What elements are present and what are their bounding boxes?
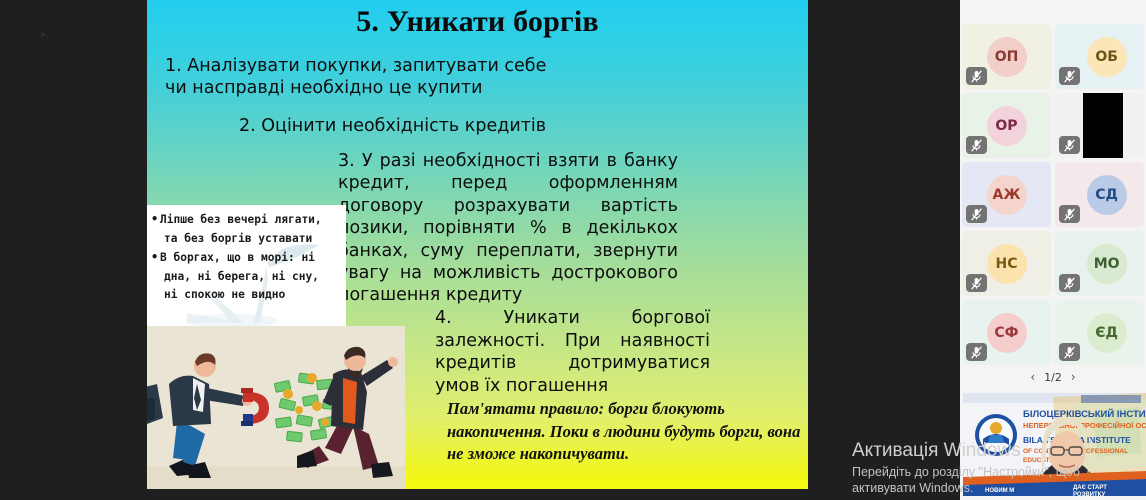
microphone-muted-icon [971, 70, 982, 83]
proverb-1-line-2: та без боргів уставати [160, 230, 342, 249]
mic-muted-badge[interactable] [1059, 67, 1080, 85]
pagination-prev-button[interactable]: ‹ [1030, 370, 1035, 384]
avatar: СФ [987, 313, 1027, 353]
mic-muted-badge[interactable] [1059, 343, 1080, 361]
mic-muted-badge[interactable] [966, 67, 987, 85]
mic-muted-badge[interactable] [1059, 205, 1080, 223]
avatar: СД [1087, 175, 1127, 215]
slide-point-4: 4. Уникати боргової залежності. При наяв… [435, 307, 710, 397]
participant-tile[interactable]: ОР [962, 93, 1051, 158]
svg-text:РОЗВИТКУ: РОЗВИТКУ [1073, 492, 1105, 496]
slide-title: 5. Уникати боргів [147, 5, 808, 39]
microphone-muted-icon [1064, 277, 1075, 290]
screen-artifact [41, 33, 45, 36]
magnet-chasing-money-illustration [147, 326, 405, 489]
participant-tile[interactable]: НС [962, 231, 1051, 296]
slide-point-2: 2. Оцінити необхідність кредитів [239, 115, 669, 137]
speaker-video-frame: БІЛОЦЕРКІВСЬКИЙ ІНСТИТУТ НЕПЕРЕРВНОЇ ПРО… [963, 393, 1146, 496]
pagination-next-button[interactable]: › [1071, 370, 1076, 384]
participant-tile[interactable]: АЖ [962, 162, 1051, 227]
screen-root: 5. Уникати боргів 1. Аналізувати покупки… [0, 0, 1146, 500]
participant-tile[interactable]: СД [1055, 162, 1144, 227]
participant-tile[interactable]: СФ [962, 300, 1051, 365]
proverb-1-line-1: Ліпше без вечері лягати, [160, 213, 322, 226]
cartoon-illustration [147, 326, 405, 489]
slide-remember-note: Пам'ятати правило: борги блокують накопи… [447, 398, 807, 466]
microphone-muted-icon [971, 346, 982, 359]
avatar: ОП [987, 37, 1027, 77]
proverb-2-line-2: дна, ні берега, ні сну, [160, 268, 342, 287]
mic-muted-badge[interactable] [966, 205, 987, 223]
microphone-muted-icon [1064, 70, 1075, 83]
slide-point-1: 1. Аналізувати покупки, запитувати себе … [165, 55, 585, 99]
proverb-2-line-1: В боргах, що в морі: ні [160, 251, 315, 264]
svg-text:НОВИМ М: НОВИМ М [985, 488, 1014, 494]
participant-tile-grid: ОПОБОРАЖСДНСМОСФЄД [962, 24, 1144, 365]
avatar: ОБ [1087, 37, 1127, 77]
presentation-slide[interactable]: 5. Уникати боргів 1. Аналізувати покупки… [147, 0, 808, 489]
svg-text:ДАЄ СТАРТ: ДАЄ СТАРТ [1073, 485, 1107, 491]
microphone-muted-icon [971, 277, 982, 290]
proverb-item: В боргах, що в морі: ні дна, ні берега, … [152, 249, 342, 305]
avatar: ОР [987, 106, 1027, 146]
participant-video-dark [1083, 93, 1123, 158]
mic-muted-badge[interactable] [966, 274, 987, 292]
avatar: НС [987, 244, 1027, 284]
slide-point-3: 3. У разі необхідності взяти в банку кре… [338, 150, 678, 307]
microphone-muted-icon [1064, 346, 1075, 359]
microphone-muted-icon [971, 139, 982, 152]
proverb-2-line-3: ні спокою не видно [160, 286, 342, 305]
microphone-muted-icon [1064, 208, 1075, 221]
avatar: МО [1087, 244, 1127, 284]
pagination-label: 1/2 [1044, 371, 1062, 384]
speaker-video-tile[interactable]: БІЛОЦЕРКІВСЬКИЙ ІНСТИТУТ НЕПЕРЕРВНОЇ ПРО… [963, 393, 1146, 496]
participant-tile[interactable]: ОП [962, 24, 1051, 89]
participant-tile[interactable]: ОБ [1055, 24, 1144, 89]
mic-muted-badge[interactable] [966, 136, 987, 154]
participant-tile[interactable]: ЄД [1055, 300, 1144, 365]
microphone-muted-icon [1064, 139, 1075, 152]
mic-muted-badge[interactable] [1059, 274, 1080, 292]
proverb-box: Ліпше без вечері лягати, та без боргів у… [147, 205, 346, 326]
mic-muted-badge[interactable] [1059, 136, 1080, 154]
mic-muted-badge[interactable] [966, 343, 987, 361]
proverb-item: Ліпше без вечері лягати, та без боргів у… [152, 211, 342, 248]
avatar: ЄД [1087, 313, 1127, 353]
avatar: АЖ [987, 175, 1027, 215]
microphone-muted-icon [971, 208, 982, 221]
proverb-list: Ліпше без вечері лягати, та без боргів у… [147, 205, 346, 305]
institute-logo [975, 414, 1017, 456]
participants-pagination[interactable]: ‹ 1/2 › [960, 370, 1146, 384]
participant-tile[interactable]: МО [1055, 231, 1144, 296]
svg-text:БІЛОЦЕРКІВСЬКИЙ ІНСТИТУТ: БІЛОЦЕРКІВСЬКИЙ ІНСТИТУТ [1023, 408, 1146, 420]
participant-tile[interactable] [1055, 93, 1144, 158]
